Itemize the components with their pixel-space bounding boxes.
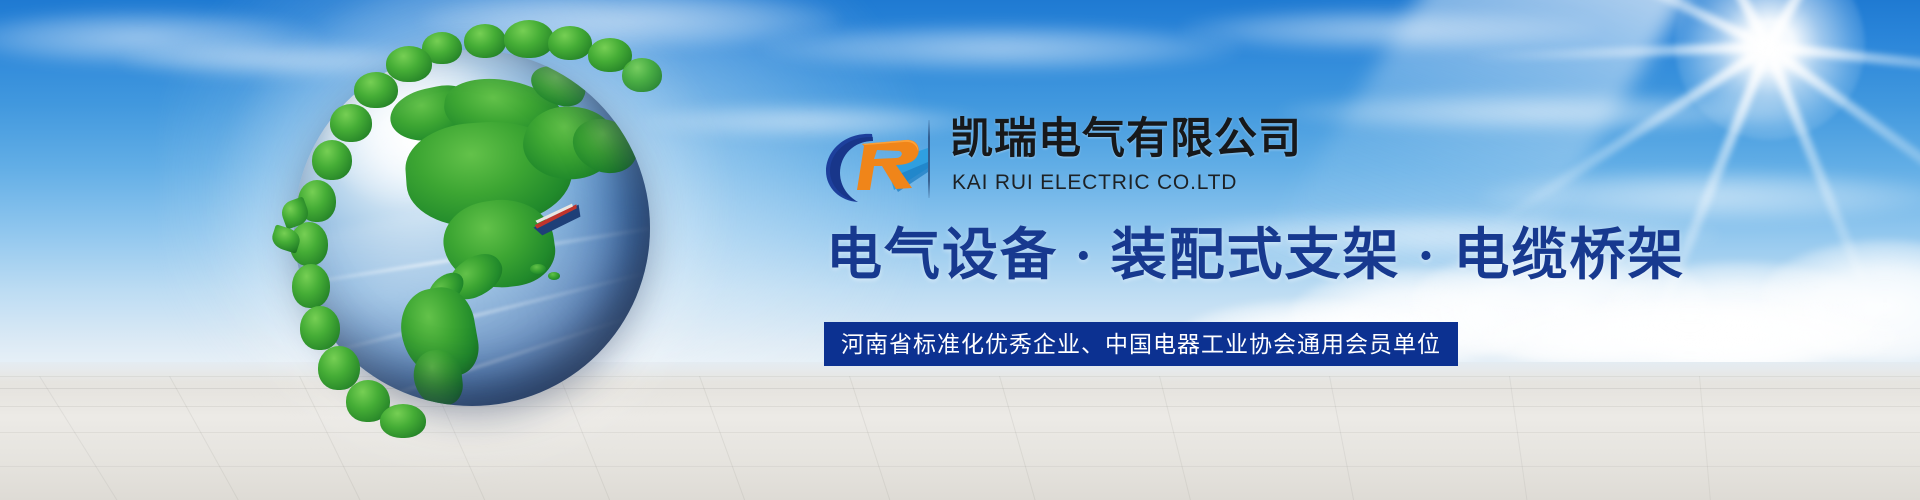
credential-badge: 河南省标准化优秀企业、中国电器工业协会通用会员单位 [824, 322, 1458, 366]
logo-text-divider [928, 120, 930, 198]
tile-line [1699, 376, 1720, 500]
banner-slogan: 电气设备 · 装配式支架 · 电缆桥架 [826, 228, 1685, 284]
tile-line [999, 376, 1064, 500]
cr-monogram-logo [824, 128, 934, 204]
tile-line [0, 432, 1920, 433]
tile-line [849, 376, 923, 500]
green-earth-globe [268, 28, 688, 428]
tile-line [0, 466, 1920, 467]
island [548, 272, 560, 280]
hero-banner: 凯瑞电气有限公司 KAI RUI ELECTRIC CO.LTD 电气设备 · … [0, 0, 1920, 500]
tile-line [699, 376, 782, 500]
tile-line [1509, 376, 1541, 500]
tile-line [39, 376, 199, 500]
company-name-cn: 凯瑞电气有限公司 [950, 118, 1302, 161]
island [530, 264, 546, 274]
globe-sphere [294, 50, 650, 406]
sun-icon [1600, 0, 1920, 230]
tile-line [1329, 376, 1373, 500]
company-name-en: KAI RUI ELECTRIC CO.LTD [952, 172, 1237, 193]
cloud-icon [760, 24, 1240, 72]
status-badge: 河南省标准化优秀企业、中国电器工业协会通用会员单位 [841, 333, 1441, 356]
tile-line [1159, 376, 1216, 500]
